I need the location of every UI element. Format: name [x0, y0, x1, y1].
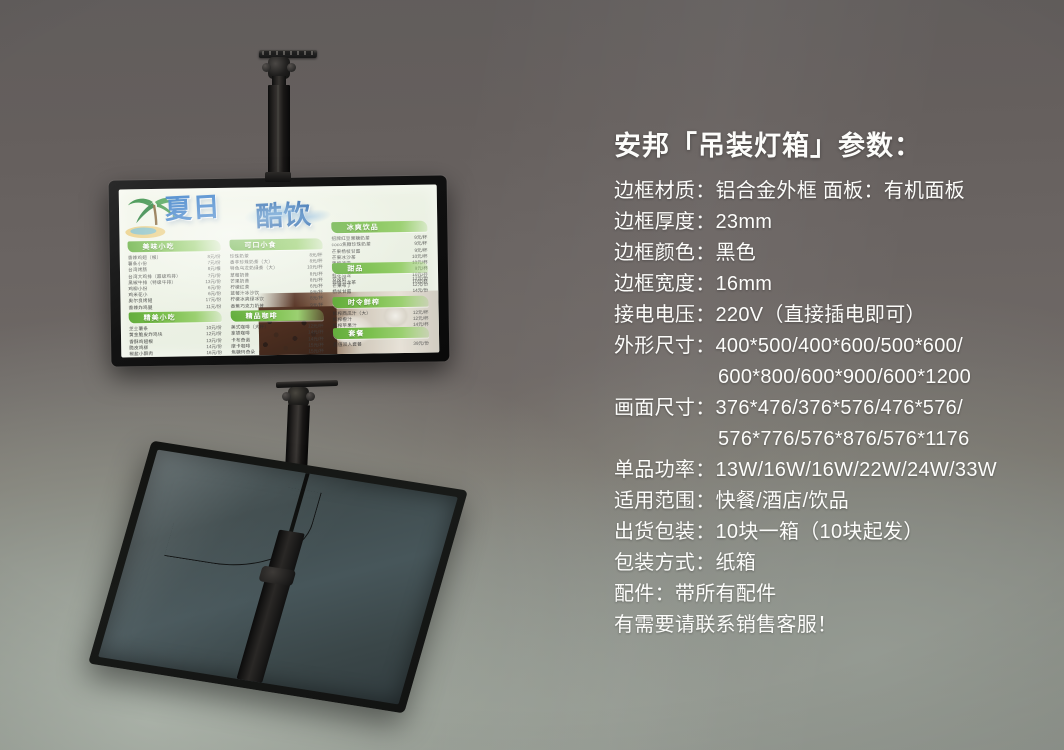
spec-line: 单品功率：13W/16W/16W/22W/24W/33W: [614, 455, 1044, 486]
spec-line: 576*776/576*876/576*1176: [614, 424, 1044, 455]
lightbox-top-hanger: [265, 172, 291, 182]
spec-line: 边框厚度：23mm: [614, 207, 1044, 238]
spec-line: 边框宽度：16mm: [614, 269, 1044, 300]
spec-line-list: 边框材质：铝合金外框 面板：有机面板边框厚度：23mm边框颜色：黑色边框宽度：1…: [614, 176, 1044, 641]
spec-line: 外形尺寸：400*500/400*600/500*600/: [614, 331, 1044, 362]
spec-line: 边框颜色：黑色: [614, 238, 1044, 269]
spec-line: 出货包装：10块一箱（10块起发）: [614, 517, 1044, 548]
spec-line: 配件：带所有配件: [614, 579, 1044, 610]
spec-line: 包装方式：纸箱: [614, 548, 1044, 579]
spec-line: 接电电压：220V（直接插电即可）: [614, 300, 1044, 331]
spec-line: 有需要请联系销售客服！: [614, 610, 1044, 641]
spec-line: 600*800/600*900/600*1200: [614, 362, 1044, 393]
spec-line: 边框材质：铝合金外框 面板：有机面板: [614, 176, 1044, 207]
spec-line: 适用范围：快餐/酒店/饮品: [614, 486, 1044, 517]
spec-line: 画面尺寸：376*476/376*576/476*576/: [614, 393, 1044, 424]
spec-panel: 安邦「吊装灯箱」参数： 边框材质：铝合金外框 面板：有机面板边框厚度：23mm边…: [614, 126, 1044, 641]
product-photo: 夏日 酷饮 美味小吃香辣鸡翅（根）8元/份薯条小份7元/份台湾烤肠8元/根台湾大…: [0, 0, 1064, 750]
spec-title: 安邦「吊装灯箱」参数：: [614, 126, 1044, 166]
